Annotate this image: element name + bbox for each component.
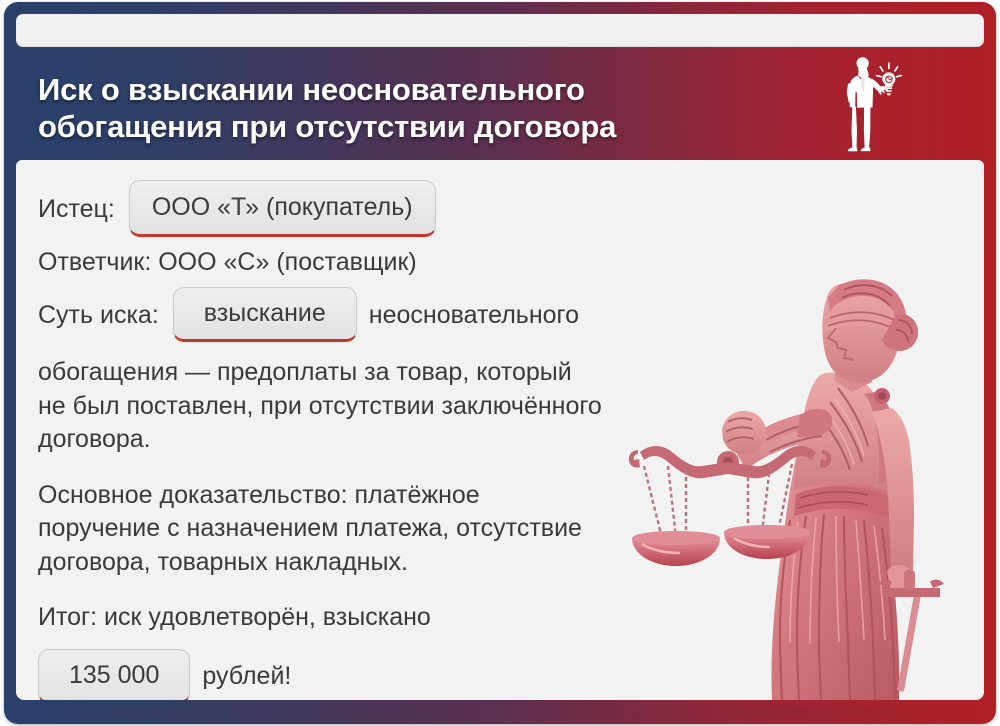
claim-type-chip[interactable]: взыскание [173, 287, 357, 342]
content-panel: Истец: ООО «Т» (покупатель) Ответчик: ОО… [16, 160, 984, 700]
evidence-text: Основное доказательство: платёжное поруч… [38, 479, 698, 580]
defendant-row: Ответчик: ООО «С» (поставщик) [38, 245, 698, 279]
claim-subject-row: Суть иска: взыскание неосновательного [38, 287, 698, 342]
claim-label: Суть иска: [38, 298, 159, 332]
bottom-gradient-bar [16, 706, 984, 720]
currency-label: рублей! [202, 659, 291, 693]
plaintiff-label: Истец: [38, 192, 115, 226]
plaintiff-row: Истец: ООО «Т» (покупатель) [38, 180, 698, 237]
page-title: Иск о взыскании неосновательного обогаще… [38, 72, 834, 145]
defendant-text: Ответчик: ООО «С» (поставщик) [38, 245, 417, 279]
content-text-column: Истец: ООО «Т» (покупатель) Ответчик: ОО… [16, 160, 698, 700]
claim-trailing-text: неосновательного [369, 298, 579, 332]
slide-root: Иск о взыскании неосновательного обогаще… [0, 0, 1000, 726]
top-empty-strip [16, 14, 984, 47]
claim-body-text: обогащения — предоплаты за товар, которы… [38, 356, 698, 457]
result-text: Итог: иск удовлетворён, взыскано [38, 601, 698, 635]
person-with-lightbulb-icon [836, 50, 908, 158]
awarded-amount-chip[interactable]: 135 000 [38, 649, 190, 701]
plaintiff-value-chip[interactable]: ООО «Т» (покупатель) [129, 180, 436, 237]
result-amount-row: 135 000 рублей! [38, 649, 698, 701]
